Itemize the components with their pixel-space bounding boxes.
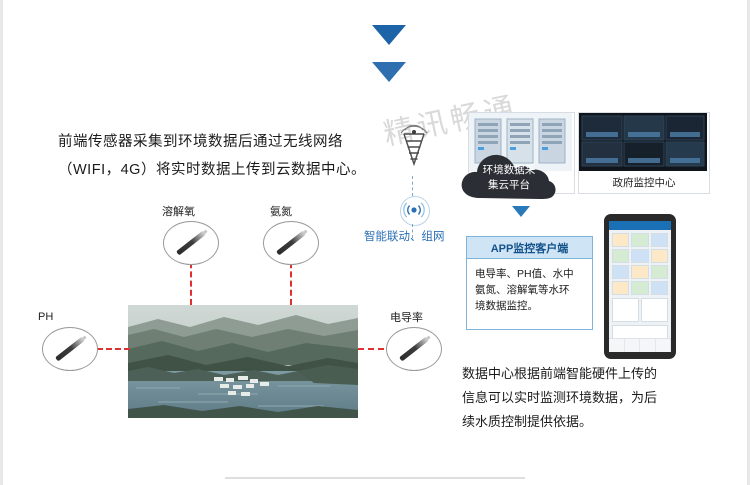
- phone-grid-cell: [612, 249, 629, 263]
- ph-sensor-label: PH: [38, 311, 53, 323]
- bottom-line-3: 续水质控制提供依据。: [462, 410, 720, 434]
- smartphone-mockup: [604, 214, 676, 359]
- headline-line-2: （WIFI，4G）将实时数据上传到云数据中心。: [58, 156, 388, 184]
- phone-grid-cell: [651, 249, 668, 263]
- phone-status-bar: [609, 221, 671, 230]
- conductivity-sensor: 电导率: [386, 327, 442, 371]
- phone-chart-row: [609, 298, 671, 325]
- diagram-canvas: 前端传感器采集到环境数据后通过无线网络 （WIFI，4G）将实时数据上传到云数据…: [0, 0, 750, 485]
- app-body-line-1: 电导率、PH值、水中: [475, 266, 584, 282]
- wireless-signal-icon: [400, 196, 430, 226]
- gov-monitor-panel: 政府监控中心: [578, 112, 710, 194]
- phone-grid-cell: [631, 265, 648, 279]
- app-client-body: 电导率、PH值、水中 氨氮、溶解氧等水环 境数据监控。: [467, 259, 592, 314]
- an-sensor-circle: [263, 221, 319, 265]
- gov-monitor-caption: 政府监控中心: [579, 171, 709, 193]
- reservoir-photo: [128, 305, 358, 418]
- cond-sensor-label: 电导率: [390, 309, 423, 325]
- phone-tab-item: [609, 339, 625, 352]
- downlink-arrow-icon-top: [372, 25, 406, 45]
- phone-tab-item: [640, 339, 656, 352]
- cloud-platform-label: 环境数据采 集云平台: [470, 163, 548, 193]
- app-client-panel: APP监控客户端 电导率、PH值、水中 氨氮、溶解氧等水环 境数据监控。: [466, 236, 593, 330]
- phone-chart-tile: [641, 298, 668, 322]
- phone-app-grid: [609, 230, 671, 298]
- network-link-label: 智能联动、组网: [364, 228, 445, 244]
- cloud-label-line-2: 集云平台: [470, 178, 548, 193]
- phone-screen: [609, 221, 671, 352]
- bottom-description-text: 数据中心根据前端智能硬件上传的 信息可以实时监测环境数据，为后 续水质控制提供依…: [462, 362, 720, 434]
- phone-tab-bar: [609, 338, 671, 352]
- ph-sensor-circle: [42, 327, 98, 371]
- ph-probe-icon: [55, 337, 85, 362]
- dissolved-oxygen-sensor: 溶解氧: [163, 221, 219, 265]
- left-border: [0, 0, 3, 485]
- cloud-to-app-arrow-icon: [512, 206, 530, 217]
- phone-grid-cell: [612, 281, 629, 295]
- app-body-line-3: 境数据监控。: [475, 298, 584, 314]
- gov-monitor-screen: [579, 113, 709, 171]
- uplink-dashed-line: [412, 176, 413, 196]
- cloud-label-line-1: 环境数据采: [470, 163, 548, 178]
- an-sensor-label: 氨氮: [270, 203, 292, 219]
- phone-tab-item: [656, 339, 672, 352]
- bottom-divider: [225, 477, 525, 479]
- headline-text: 前端传感器采集到环境数据后通过无线网络 （WIFI，4G）将实时数据上传到云数据…: [58, 128, 388, 184]
- phone-grid-cell: [651, 233, 668, 247]
- downlink-arrow-icon-bottom: [372, 62, 406, 82]
- do-probe-icon: [176, 231, 206, 256]
- app-client-title: APP监控客户端: [467, 237, 592, 259]
- phone-grid-cell: [651, 265, 668, 279]
- bottom-line-1: 数据中心根据前端智能硬件上传的: [462, 362, 720, 386]
- cell-tower-icon: [390, 124, 438, 172]
- phone-grid-cell: [631, 233, 648, 247]
- an-probe-icon: [276, 231, 306, 256]
- ph-sensor: PH: [42, 327, 98, 371]
- phone-grid-cell: [631, 249, 648, 263]
- do-sensor-circle: [163, 221, 219, 265]
- cond-probe-icon: [399, 337, 429, 362]
- app-body-line-2: 氨氮、溶解氧等水环: [475, 282, 584, 298]
- phone-tab-item: [625, 339, 641, 352]
- bottom-line-2: 信息可以实时监测环境数据，为后: [462, 386, 720, 410]
- phone-grid-cell: [612, 233, 629, 247]
- phone-chart-tile: [612, 298, 639, 322]
- phone-grid-cell: [631, 281, 648, 295]
- phone-grid-cell: [651, 281, 668, 295]
- phone-grid-cell: [612, 265, 629, 279]
- cond-sensor-circle: [386, 327, 442, 371]
- do-sensor-label: 溶解氧: [162, 203, 195, 219]
- headline-line-1: 前端传感器采集到环境数据后通过无线网络: [58, 128, 388, 156]
- ammonia-nitrogen-sensor: 氨氮: [263, 221, 319, 265]
